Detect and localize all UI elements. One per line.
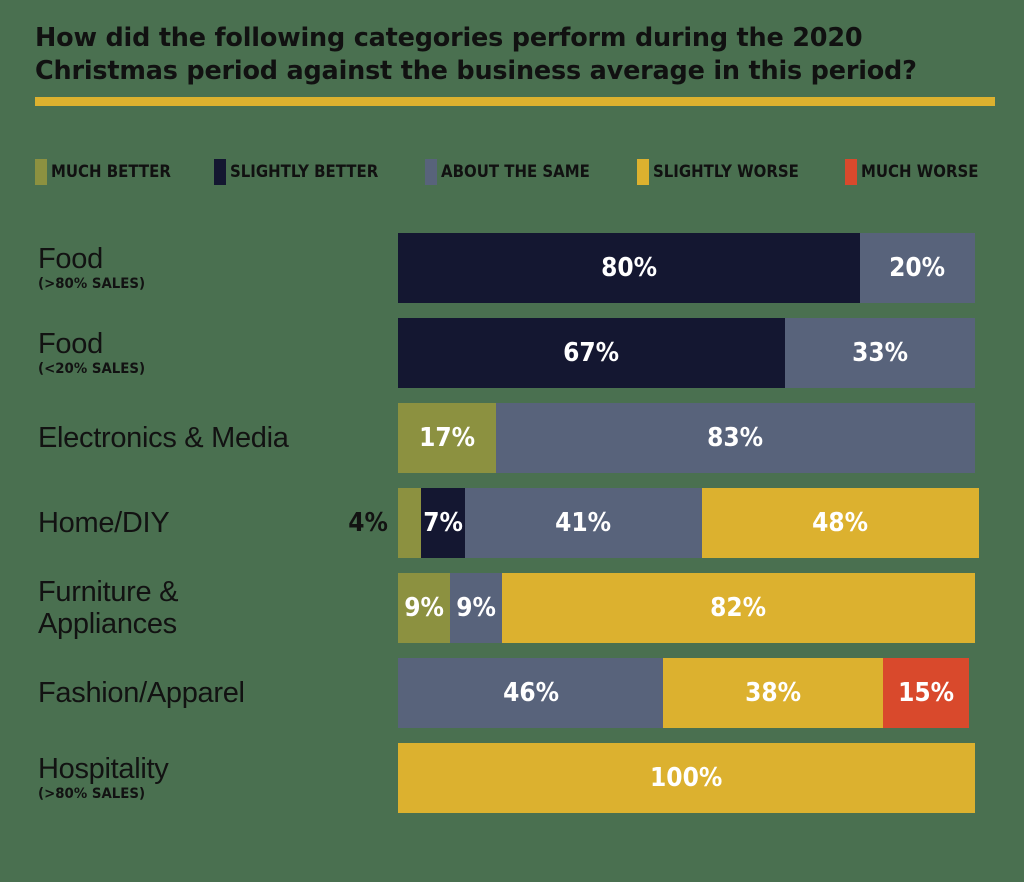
bar-segment-value: 80% [601,255,657,281]
category-label-sub: (>80% SALES) [38,786,145,803]
legend-item-much_better[interactable]: MUCH BETTER [35,158,187,186]
chart-legend: MUCH BETTERSLIGHTLY BETTERABOUT THE SAME… [35,158,995,186]
bar-segment-slightly_worse[interactable]: 100% [398,743,975,813]
bar-segment-about_same[interactable]: 83% [496,403,975,473]
bar-segment-slightly_better[interactable]: 67% [398,318,785,388]
category-label: Food(<20% SALES) [38,310,368,395]
legend-swatch-icon [425,159,437,185]
legend-swatch-icon [214,159,226,185]
bar-segment-value: 83% [708,425,764,451]
bar-segment-value: 9% [456,595,496,621]
bar-segment-about_same[interactable]: 46% [398,658,663,728]
legend-item-about_same[interactable]: ABOUT THE SAME [425,158,610,186]
bar-segment-value: 9% [404,595,444,621]
category-label-main: Hospitality [38,753,168,785]
chart-row: Electronics & Media17%83% [0,395,1024,480]
bar-segment-value: 67% [563,340,619,366]
legend-item-label: MUCH BETTER [51,164,171,181]
legend-item-label: ABOUT THE SAME [441,164,590,181]
category-label: Food(>80% SALES) [38,225,368,310]
legend-swatch-icon [35,159,47,185]
category-label-main: Food [38,328,103,360]
bar-segment-value: 46% [503,680,559,706]
category-label: Electronics & Media [38,395,368,480]
legend-swatch-icon [845,159,857,185]
bar-segment-value: 82% [710,595,766,621]
category-label-sub: (<20% SALES) [38,361,145,378]
bar-segment-value: 17% [419,425,475,451]
stacked-bar: 4%7%41%48% [398,488,975,558]
bar-segment-about_same[interactable]: 20% [860,233,975,303]
category-label-main: Fashion/Apparel [38,677,245,709]
page-title: How did the following categories perform… [35,22,995,88]
category-label: Furniture & Appliances [38,565,368,650]
bar-segment-value: 7% [423,510,463,536]
stacked-bar: 17%83% [398,403,975,473]
chart-row: Hospitality(>80% SALES)100% [0,735,1024,820]
bar-segment-about_same[interactable]: 33% [785,318,975,388]
legend-item-slightly_worse[interactable]: SLIGHTLY WORSE [637,158,819,186]
chart-row: Fashion/Apparel46%38%15% [0,650,1024,735]
bar-segment-slightly_better[interactable]: 80% [398,233,860,303]
stacked-bar: 100% [398,743,975,813]
chart-row: Food(>80% SALES)80%20% [0,225,1024,310]
chart-row: Food(<20% SALES)67%33% [0,310,1024,395]
bar-segment-value: 15% [898,680,954,706]
category-label-main: Furniture & Appliances [38,576,178,640]
category-label-main: Food [38,243,103,275]
category-label-sub: (>80% SALES) [38,276,145,293]
category-label: Home/DIY [38,480,368,565]
bar-segment-value: 38% [745,680,801,706]
category-label-main: Home/DIY [38,507,169,539]
legend-item-label: MUCH WORSE [861,164,978,181]
stacked-bar: 67%33% [398,318,975,388]
bar-segment-slightly_worse[interactable]: 38% [663,658,882,728]
bar-segment-much_better[interactable]: 4% [398,488,421,558]
legend-item-much_worse[interactable]: MUCH WORSE [845,158,995,186]
bar-segment-value: 48% [812,510,868,536]
bar-segment-value: 41% [556,510,612,536]
legend-swatch-icon [637,159,649,185]
bar-segment-slightly_worse[interactable]: 82% [502,573,975,643]
title-block: How did the following categories perform… [35,22,995,88]
bar-segment-value: 4% [348,510,388,536]
bar-segment-much_worse[interactable]: 15% [883,658,970,728]
bar-segment-about_same[interactable]: 9% [450,573,502,643]
title-underline-rule [35,97,995,106]
bar-segment-about_same[interactable]: 41% [465,488,702,558]
bar-segment-value: 33% [852,340,908,366]
chart-container: How did the following categories perform… [0,0,1024,882]
bar-segment-slightly_better[interactable]: 7% [421,488,465,558]
category-label: Fashion/Apparel [38,650,368,735]
legend-item-slightly_better[interactable]: SLIGHTLY BETTER [214,158,398,186]
stacked-bar: 46%38%15% [398,658,975,728]
bar-segment-much_better[interactable]: 9% [398,573,450,643]
bar-segment-much_better[interactable]: 17% [398,403,496,473]
stacked-bar: 80%20% [398,233,975,303]
chart-rows: Food(>80% SALES)80%20%Food(<20% SALES)67… [0,225,1024,820]
bar-segment-value: 100% [650,765,722,791]
stacked-bar: 9%9%82% [398,573,975,643]
category-label-main: Electronics & Media [38,422,289,454]
chart-row: Furniture & Appliances9%9%82% [0,565,1024,650]
bar-segment-slightly_worse[interactable]: 48% [702,488,979,558]
legend-item-label: SLIGHTLY BETTER [230,164,378,181]
category-label: Hospitality(>80% SALES) [38,735,368,820]
chart-row: Home/DIY4%7%41%48% [0,480,1024,565]
bar-segment-value: 20% [889,255,945,281]
legend-item-label: SLIGHTLY WORSE [653,164,799,181]
